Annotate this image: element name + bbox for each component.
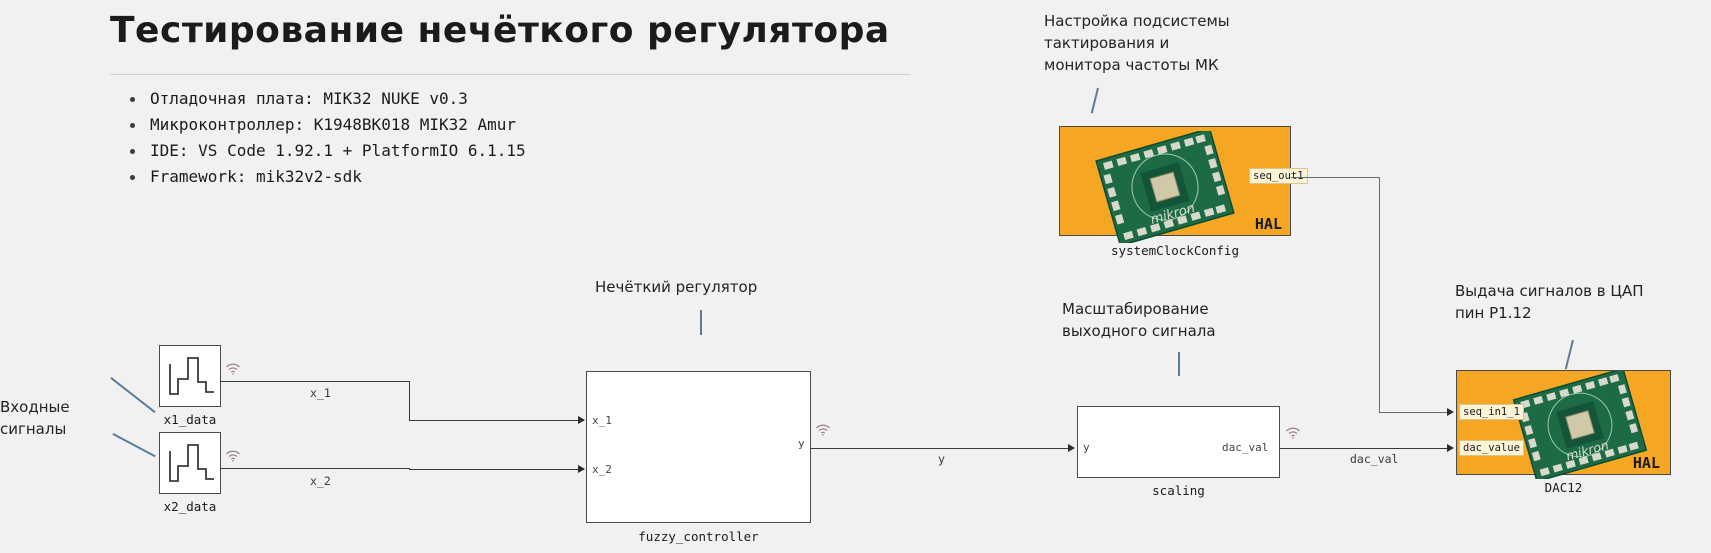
wire-x2-seg1 <box>221 468 410 469</box>
arrow-x1-in <box>578 416 585 424</box>
block-caption-clock: systemClockConfig <box>1059 243 1291 258</box>
block-caption-x1: x1_data <box>159 412 221 427</box>
list-item: Framework: mik32v2-sdk <box>118 164 526 190</box>
port-seq-in1-1: seq_in1_1 <box>1459 404 1524 420</box>
block-dac12[interactable]: mikron HAL <box>1456 370 1671 475</box>
wireless-signal-icon <box>225 363 241 375</box>
hal-badge: HAL <box>1255 215 1282 233</box>
annotation-inputs: Входные сигналы <box>0 396 70 440</box>
arrow-y-in <box>1068 444 1075 452</box>
hal-badge: HAL <box>1633 454 1660 472</box>
arrow-seq-in <box>1447 408 1454 416</box>
staircase-signal-icon <box>166 441 216 487</box>
list-item: Микроконтроллер: K1948BK018 MIK32 Amur <box>118 112 526 138</box>
wire-x1-seg1 <box>221 381 410 382</box>
staircase-signal-icon <box>166 354 216 400</box>
wire-seq-seg2 <box>1379 177 1380 413</box>
leader-line-dac <box>1565 340 1574 369</box>
leader-line-scaling <box>1178 352 1180 376</box>
port-x1: x_1 <box>592 414 612 427</box>
wireless-signal-icon <box>815 424 831 436</box>
block-x2-data[interactable] <box>159 432 221 494</box>
port-dac-val: dac_val <box>1222 441 1268 454</box>
port-y-out: y <box>798 437 805 450</box>
annotation-fuzzy: Нечёткий регулятор <box>595 276 757 298</box>
wireless-signal-icon <box>225 450 241 462</box>
wire-seq-seg3 <box>1379 412 1452 413</box>
mik32-board-image: mikron <box>1090 131 1240 243</box>
slide-canvas: Тестирование нечёткого регулятора Отладо… <box>0 0 1711 553</box>
title-divider <box>110 74 910 75</box>
wire-dac-val <box>1280 448 1452 449</box>
page-title: Тестирование нечёткого регулятора <box>110 10 890 51</box>
block-caption-x2: x2_data <box>159 499 221 514</box>
wire-y <box>811 448 1073 449</box>
port-x2: x_2 <box>592 463 612 476</box>
wire-x1-seg3 <box>409 420 584 421</box>
wire-label-y: y <box>938 452 945 466</box>
wire-seq-seg1 <box>1291 177 1380 178</box>
wire-label-x1: x_1 <box>310 386 331 400</box>
port-dac-value: dac_value <box>1459 440 1524 456</box>
port-scaling-y: y <box>1083 441 1090 454</box>
spec-list: Отладочная плата: MIK32 NUKE v0.3 Микрок… <box>118 86 526 190</box>
leader-line-input2 <box>112 433 155 457</box>
block-caption-fuzzy: fuzzy_controller <box>586 529 811 544</box>
wire-label-x2: x_2 <box>310 474 331 488</box>
list-item: Отладочная плата: MIK32 NUKE v0.3 <box>118 86 526 112</box>
block-fuzzy-controller[interactable] <box>586 371 811 523</box>
leader-line-fuzzy <box>700 310 702 335</box>
leader-line-clock <box>1091 88 1099 114</box>
annotation-dac: Выдача сигналов в ЦАП пин P1.12 <box>1455 280 1644 324</box>
block-caption-scaling: scaling <box>1077 483 1280 498</box>
arrow-dac-value-in <box>1447 444 1454 452</box>
port-seq-out1: seq_out1 <box>1249 168 1308 184</box>
wire-label-dac-val: dac_val <box>1350 452 1398 466</box>
annotation-scaling: Масштабирование выходного сигнала <box>1062 298 1216 342</box>
annotation-clock-config: Настройка подсистемы тактирования и мони… <box>1044 10 1230 76</box>
wire-x1-seg2 <box>409 381 410 420</box>
leader-line-input1 <box>110 377 155 413</box>
wire-x2-seg3 <box>409 469 584 470</box>
arrow-x2-in <box>578 465 585 473</box>
block-caption-dac12: DAC12 <box>1456 480 1671 495</box>
block-x1-data[interactable] <box>159 345 221 407</box>
wireless-signal-icon <box>1285 427 1301 439</box>
list-item: IDE: VS Code 1.92.1 + PlatformIO 6.1.15 <box>118 138 526 164</box>
